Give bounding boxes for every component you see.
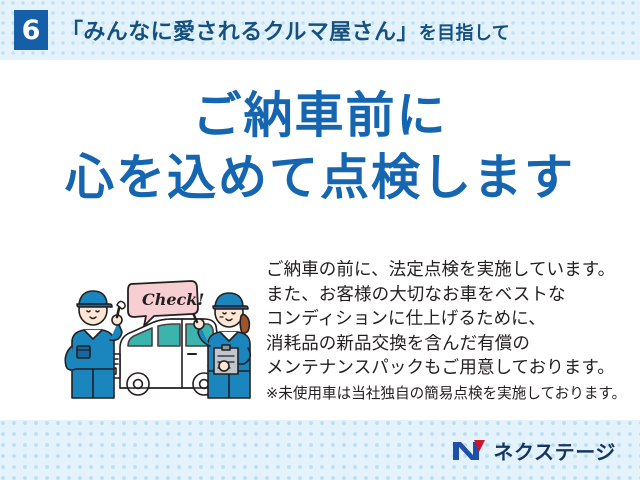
body-note: ※未使用車は当社独自の簡易点検を実施しております。 [266, 383, 616, 405]
nextage-logo-icon [452, 438, 486, 462]
header-title: 「みんなに愛されるクルマ屋さん」を目指して [61, 14, 510, 46]
body-line-1: ご納車の前に、法定点検を実施しています。 [266, 258, 616, 283]
body-line-4: 消耗品の新品交換を含んだ有償の [266, 332, 616, 357]
check-bubble-label: Check! [142, 290, 204, 309]
headline: ご納車前に 心を込めて点検します [0, 88, 640, 206]
headline-line-2: 心を込めて点検します [0, 150, 640, 206]
step-number-badge: 6 [14, 10, 48, 50]
body-line-5: メンテナンスパックもご用意しております。 [266, 356, 616, 381]
left-mechanic [65, 291, 125, 398]
header-title-quoted: 「みんなに愛されるクルマ屋さん」を目指して [61, 19, 510, 44]
promo-slide: 6 「みんなに愛されるクルマ屋さん」を目指して ご納車前に 心を込めて点検します [0, 0, 640, 480]
brand-name: ネクステージ [493, 436, 616, 465]
body-copy: ご納車の前に、法定点検を実施しています。 また、お客様の大切なお車をベストな コ… [266, 258, 616, 405]
mechanics-illustration: Check! [58, 270, 258, 402]
brand-lockup: ネクステージ [452, 420, 616, 480]
body-line-3: コンディションに仕上げるために、 [266, 307, 616, 332]
headline-line-1: ご納車前に [0, 88, 640, 144]
body-line-2: また、お客様の大切なお車をベストな [266, 283, 616, 308]
header: 6 「みんなに愛されるクルマ屋さん」を目指して [0, 0, 640, 60]
